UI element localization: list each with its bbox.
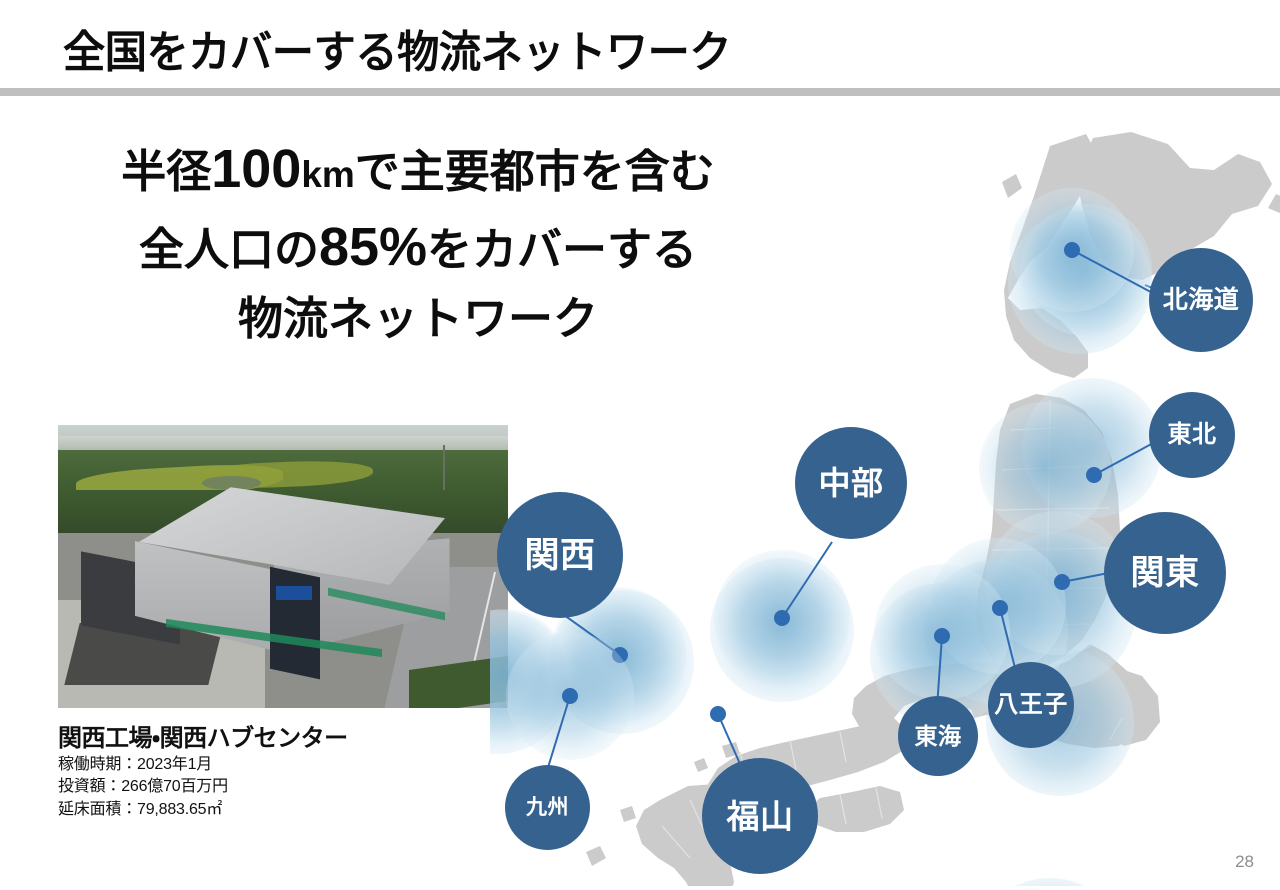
node-dot-fukuyama[interactable]: [710, 706, 726, 722]
headline-line-1-unit: km: [301, 154, 354, 195]
node-dot-kansai[interactable]: [612, 647, 628, 663]
photo-company-sign: [276, 586, 312, 600]
caption-floor-area: 延床面積：79,883.65㎡: [58, 799, 528, 820]
map-label-fukuyama-text: 福山: [727, 800, 794, 833]
headline-line-2-number: 85: [319, 217, 379, 277]
facility-photo: [58, 425, 508, 708]
map-label-tokai[interactable]: 東海: [898, 696, 978, 776]
headline-line-1-part-a: 半径: [121, 146, 211, 197]
node-dot-tokai[interactable]: [934, 628, 950, 644]
node-dot-hokkaido[interactable]: [1064, 242, 1080, 258]
node-dot-kanto[interactable]: [1054, 574, 1070, 590]
page-number: 28: [1235, 852, 1254, 872]
map-label-fukuyama[interactable]: 福山: [702, 758, 818, 874]
headline-line-1-number: 100: [211, 139, 301, 199]
map-label-kanto[interactable]: 関東: [1104, 512, 1226, 634]
map-label-tohoku[interactable]: 東北: [1149, 392, 1235, 478]
node-dot-chubu[interactable]: [774, 610, 790, 626]
map-label-hachioji[interactable]: 八王子: [988, 662, 1074, 748]
map-label-kyushu-text: 九州: [526, 797, 569, 818]
headline-line-2-part-a: 全人口の: [139, 224, 319, 275]
map-label-hachioji-text: 八王子: [994, 693, 1068, 717]
page-title: 全国をカバーする物流ネットワーク: [63, 16, 731, 80]
map-label-chubu[interactable]: 中部: [795, 427, 907, 539]
map-label-kyushu[interactable]: 九州: [505, 765, 590, 850]
caption-operation-date: 稼働時期：2023年1月: [58, 754, 528, 775]
photo-caption: 関西工場・関西ハブセンター 稼働時期：2023年1月 投資額：266億70百万円…: [58, 718, 528, 820]
map-label-kansai-text: 関西: [524, 538, 595, 573]
map-label-hokkaido-text: 北海道: [1163, 288, 1240, 313]
map-label-kansai[interactable]: 関西: [497, 492, 623, 618]
map-label-tokai-text: 東海: [915, 725, 962, 748]
map-label-hokkaido[interactable]: 北海道: [1149, 248, 1253, 352]
node-dot-tohoku[interactable]: [1086, 467, 1102, 483]
photo-warehouse-tower: [270, 567, 320, 679]
photo-transmission-tower: [443, 445, 445, 493]
map-label-kanto-text: 関東: [1131, 556, 1200, 590]
headline-line-2-percent: %: [379, 217, 427, 277]
node-dot-hachioji[interactable]: [992, 600, 1008, 616]
map-label-tohoku-text: 東北: [1168, 423, 1217, 447]
caption-title: 関西工場・関西ハブセンター: [58, 718, 528, 753]
title-divider: [0, 88, 1280, 96]
caption-investment: 投資額：266億70百万円: [58, 776, 528, 797]
map-label-chubu-text: 中部: [818, 467, 883, 499]
